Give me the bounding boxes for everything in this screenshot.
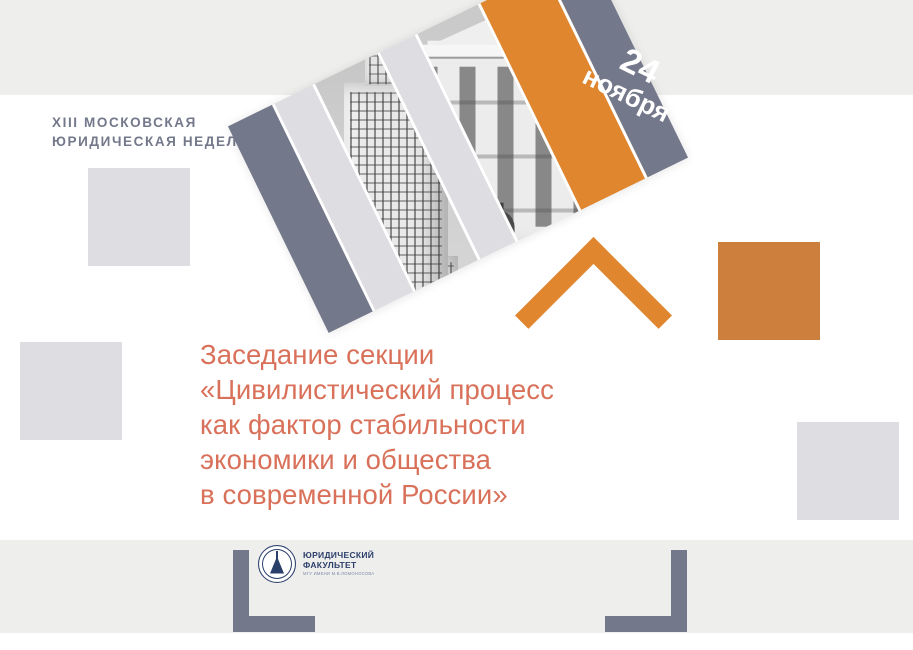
photo-collage: 24 ноября (208, 22, 698, 352)
quadrant-cell (850, 473, 899, 520)
decorative-square-orange-right (718, 242, 820, 340)
quadrant-cell (141, 219, 190, 266)
quadrant-cell (771, 242, 820, 289)
quadrant-cell (771, 293, 820, 340)
quadrant-cell (20, 342, 69, 389)
poster-canvas: XIII МОСКОВСКАЯ ЮРИДИЧЕСКАЯ НЕДЕЛЯ (0, 0, 913, 650)
decorative-bracket-left (233, 550, 315, 632)
page-title: Заседание секции «Цивилистический процес… (200, 337, 554, 512)
quadrant-cell (141, 168, 190, 215)
decorative-bracket-right (605, 550, 687, 632)
quadrant-cell (797, 473, 846, 520)
background-band-bottom (0, 540, 913, 633)
quadrant-cell (20, 393, 69, 440)
quadrant-cell (718, 293, 767, 340)
quadrant-cell (797, 422, 846, 469)
quadrant-cell (73, 393, 122, 440)
quadrant-cell (73, 342, 122, 389)
decorative-square-gray-lower-right (797, 422, 899, 520)
background-band-footer (0, 633, 913, 650)
quadrant-cell (88, 168, 137, 215)
quadrant-cell (88, 219, 137, 266)
decorative-square-gray-left (20, 342, 122, 440)
quadrant-cell (850, 422, 899, 469)
decorative-square-gray-upper-left (88, 168, 190, 266)
quadrant-cell (718, 242, 767, 289)
